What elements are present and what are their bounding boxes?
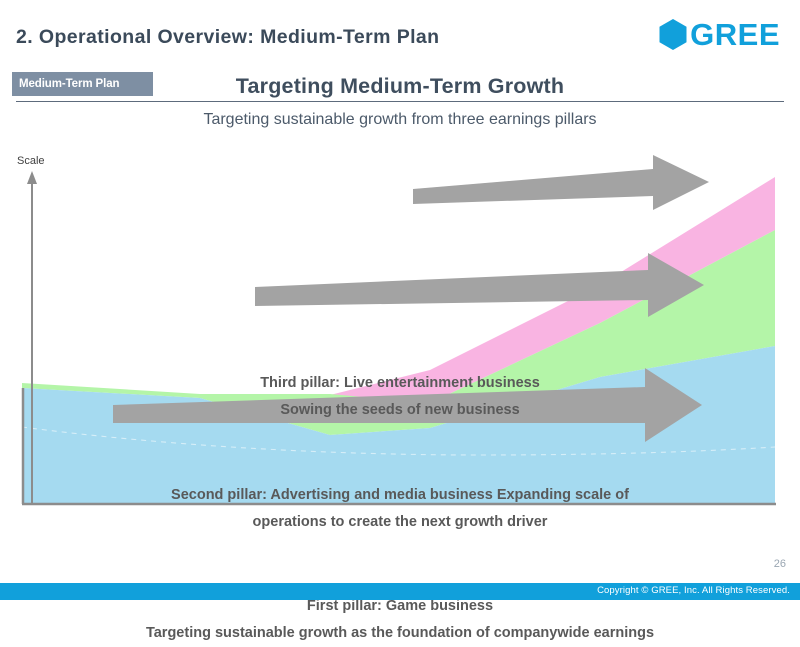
section-subtitle: Targeting sustainable growth from three …	[0, 111, 800, 129]
section-title: Targeting Medium-Term Growth	[0, 74, 800, 99]
gree-logo: GREE	[658, 18, 780, 51]
page-number: 26	[774, 558, 786, 570]
gree-wordmark: GREE	[690, 19, 780, 50]
section-divider	[16, 101, 784, 102]
growth-chart: Scale Third pillar: Live entertainment b…	[0, 155, 800, 525]
y-axis-arrowhead	[27, 171, 37, 184]
gree-hexagon-icon	[658, 18, 688, 51]
caption-first-pillar: First pillar: Game business Targeting su…	[0, 593, 800, 647]
footer-bar: Copyright © GREE, Inc. All Rights Reserv…	[0, 583, 800, 600]
page-title: 2. Operational Overview: Medium-Term Pla…	[16, 26, 439, 49]
chart-canvas	[0, 155, 800, 525]
slide-header: 2. Operational Overview: Medium-Term Pla…	[0, 0, 800, 62]
caption-first-pillar-line2: Targeting sustainable growth as the foun…	[0, 620, 800, 647]
copyright-text: Copyright © GREE, Inc. All Rights Reserv…	[597, 585, 790, 596]
growth-arrow-third-icon	[413, 155, 709, 210]
